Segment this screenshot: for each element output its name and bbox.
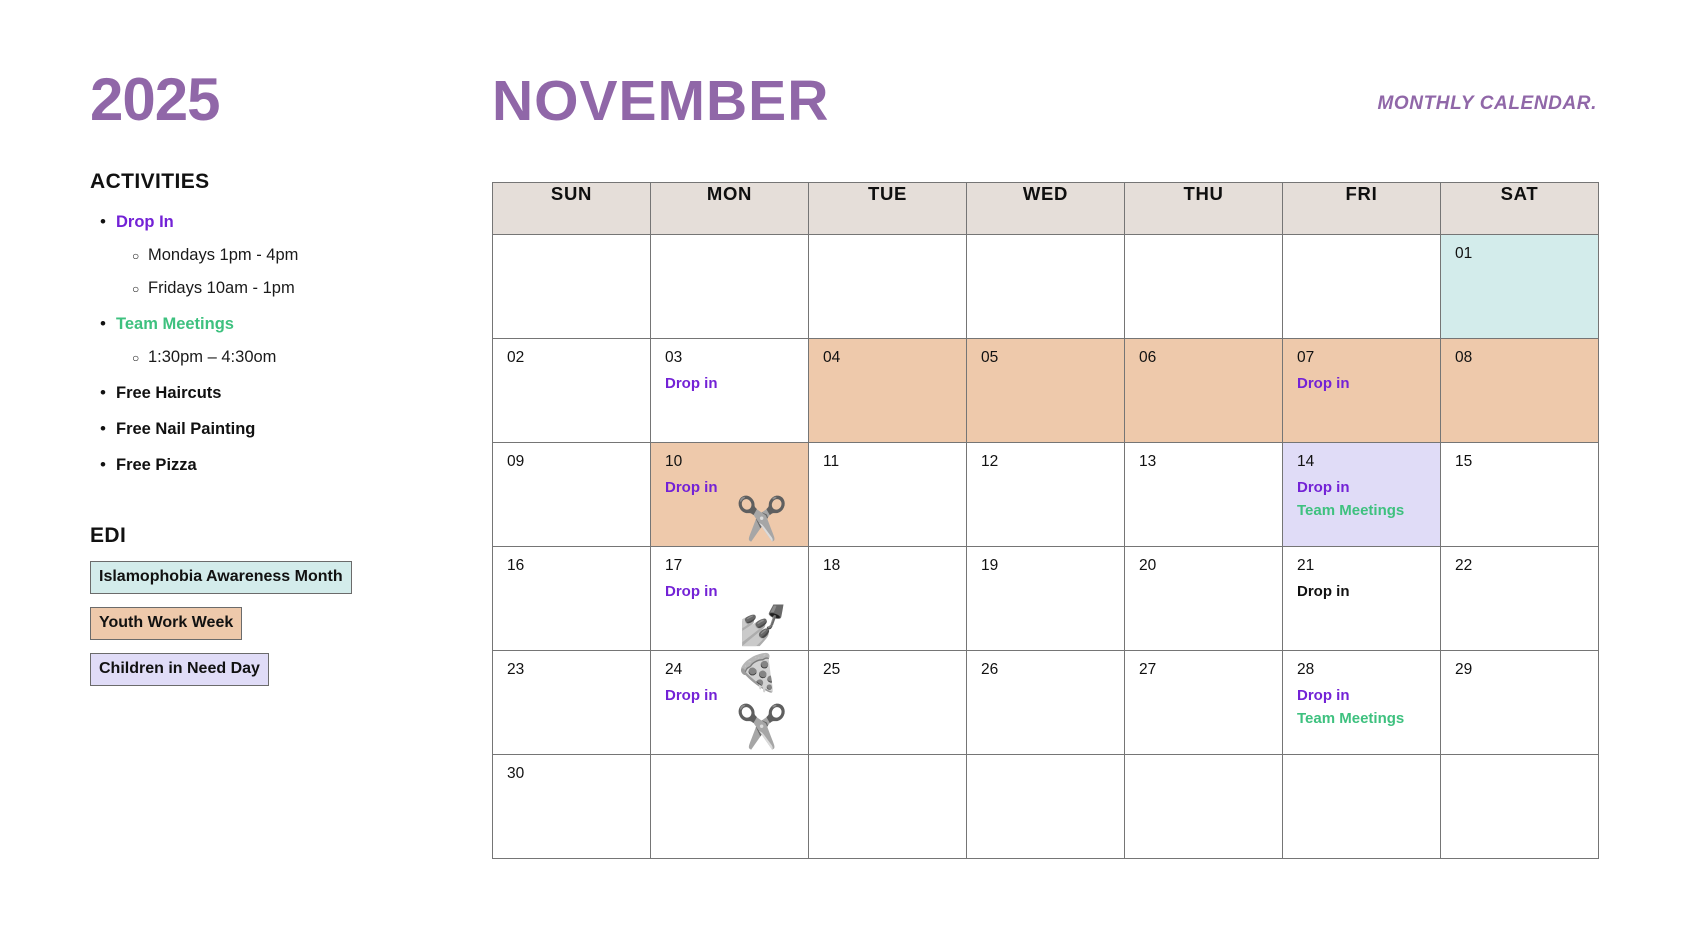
bullet-dot-icon: • xyxy=(100,456,116,473)
day-cell-30[interactable]: 30 xyxy=(493,755,651,859)
day-number: 06 xyxy=(1139,349,1156,367)
day-number: 16 xyxy=(507,557,524,575)
activity-bullet-row: •Free Haircuts xyxy=(90,377,420,410)
nail-polish-icon: 💅 xyxy=(738,606,788,646)
calendar-page: 2025 ACTIVITIES •Drop In○Mondays 1pm - 4… xyxy=(0,0,1687,947)
sub-bullet-circle-icon: ○ xyxy=(132,250,148,262)
day-cell-16[interactable]: 16 xyxy=(493,547,651,651)
activity-item: •Free Nail Painting xyxy=(90,413,420,446)
day-number: 15 xyxy=(1455,453,1472,471)
day-cell-13[interactable]: 13 xyxy=(1125,443,1283,547)
activity-item: •Free Pizza xyxy=(90,449,420,482)
day-cell-21[interactable]: 21Drop in xyxy=(1283,547,1441,651)
activity-bullet-row: •Free Pizza xyxy=(90,449,420,482)
weekday-header-thu: THU xyxy=(1125,183,1283,235)
day-cell-03[interactable]: 03Drop in xyxy=(651,339,809,443)
day-cell-empty xyxy=(1283,755,1441,859)
bullet-dot-icon: • xyxy=(100,315,116,332)
day-number: 08 xyxy=(1455,349,1472,367)
sidebar: 2025 ACTIVITIES •Drop In○Mondays 1pm - 4… xyxy=(90,70,420,699)
day-number: 23 xyxy=(507,661,524,679)
day-number: 17 xyxy=(665,557,682,575)
day-number: 11 xyxy=(823,453,839,471)
day-events: Drop in xyxy=(665,684,802,707)
activity-subitem: ○1:30pm – 4:30om xyxy=(90,341,420,374)
day-cell-08[interactable]: 08 xyxy=(1441,339,1599,443)
calendar-body: 010203Drop in04050607Drop in080910Drop i… xyxy=(493,235,1599,859)
day-cell-empty xyxy=(1283,235,1441,339)
activity-bullet-row: •Drop In xyxy=(90,206,420,239)
day-cell-04[interactable]: 04 xyxy=(809,339,967,443)
weekday-header-sun: SUN xyxy=(493,183,651,235)
activity-subitem-label: 1:30pm – 4:30om xyxy=(148,341,276,374)
day-number: 12 xyxy=(981,453,998,471)
day-number: 21 xyxy=(1297,557,1314,575)
day-cell-07[interactable]: 07Drop in xyxy=(1283,339,1441,443)
day-events: Drop in xyxy=(665,476,802,499)
event-label[interactable]: Team Meetings xyxy=(1297,707,1434,730)
day-number: 27 xyxy=(1139,661,1156,679)
edi-tag-row: Children in Need Day xyxy=(90,653,420,699)
event-label[interactable]: Team Meetings xyxy=(1297,499,1434,522)
page-title: NOVEMBER xyxy=(492,73,829,130)
activity-item: •Free Haircuts xyxy=(90,377,420,410)
day-number: 05 xyxy=(981,349,998,367)
day-cell-empty xyxy=(651,235,809,339)
edi-tag: Islamophobia Awareness Month xyxy=(90,561,352,594)
activities-heading: ACTIVITIES xyxy=(90,170,420,194)
activity-label: Free Nail Painting xyxy=(116,413,255,446)
day-number: 14 xyxy=(1297,453,1314,471)
day-events: Drop inTeam Meetings xyxy=(1297,684,1434,731)
weekday-header-mon: MON xyxy=(651,183,809,235)
day-cell-12[interactable]: 12 xyxy=(967,443,1125,547)
day-cell-empty xyxy=(809,235,967,339)
activity-subitem-label: Fridays 10am - 1pm xyxy=(148,272,295,305)
day-events: Drop in xyxy=(1297,580,1434,603)
day-number: 30 xyxy=(507,765,524,783)
day-cell-24[interactable]: 24Drop in🍕✂️ xyxy=(651,651,809,755)
scissors-icon: ✂️ xyxy=(736,498,788,540)
weekday-header-fri: FRI xyxy=(1283,183,1441,235)
day-cell-empty xyxy=(967,235,1125,339)
weekday-header-wed: WED xyxy=(967,183,1125,235)
day-number: 02 xyxy=(507,349,524,367)
event-label[interactable]: Drop in xyxy=(1297,372,1434,395)
calendar-week-row: 2324Drop in🍕✂️25262728Drop inTeam Meetin… xyxy=(493,651,1599,755)
day-cell-19[interactable]: 19 xyxy=(967,547,1125,651)
day-cell-22[interactable]: 22 xyxy=(1441,547,1599,651)
sub-bullet-circle-icon: ○ xyxy=(132,352,148,364)
day-cell-05[interactable]: 05 xyxy=(967,339,1125,443)
activity-bullet-row: •Free Nail Painting xyxy=(90,413,420,446)
event-label[interactable]: Drop in xyxy=(665,476,802,499)
day-events: Drop in xyxy=(1297,372,1434,395)
activity-label: Team Meetings xyxy=(116,308,234,341)
day-cell-26[interactable]: 26 xyxy=(967,651,1125,755)
day-number: 22 xyxy=(1455,557,1472,575)
day-cell-empty xyxy=(967,755,1125,859)
calendar-grid: SUNMONTUEWEDTHUFRISAT 010203Drop in04050… xyxy=(492,182,1599,859)
sub-bullet-circle-icon: ○ xyxy=(132,283,148,295)
activity-subitem: ○Mondays 1pm - 4pm xyxy=(90,239,420,272)
day-cell-11[interactable]: 11 xyxy=(809,443,967,547)
day-cell-17[interactable]: 17Drop in💅 xyxy=(651,547,809,651)
edi-tag: Children in Need Day xyxy=(90,653,269,686)
edi-section: EDI Islamophobia Awareness MonthYouth Wo… xyxy=(90,524,420,699)
day-cell-02[interactable]: 02 xyxy=(493,339,651,443)
day-number: 04 xyxy=(823,349,840,367)
event-label[interactable]: Drop in xyxy=(1297,580,1434,603)
day-cell-empty xyxy=(1441,755,1599,859)
event-label[interactable]: Drop in xyxy=(665,684,802,707)
day-cell-empty xyxy=(651,755,809,859)
day-cell-15[interactable]: 15 xyxy=(1441,443,1599,547)
day-cell-empty xyxy=(493,235,651,339)
day-cell-29[interactable]: 29 xyxy=(1441,651,1599,755)
day-number: 20 xyxy=(1139,557,1156,575)
activity-label: Drop In xyxy=(116,206,174,239)
day-cell-empty xyxy=(809,755,967,859)
day-cell-10[interactable]: 10Drop in✂️ xyxy=(651,443,809,547)
activity-label: Free Haircuts xyxy=(116,377,221,410)
day-cell-empty xyxy=(1125,235,1283,339)
activity-bullet-row: •Team Meetings xyxy=(90,308,420,341)
day-cell-28[interactable]: 28Drop inTeam Meetings xyxy=(1283,651,1441,755)
day-number: 28 xyxy=(1297,661,1314,679)
weekday-header-sat: SAT xyxy=(1441,183,1599,235)
weekday-header-row: SUNMONTUEWEDTHUFRISAT xyxy=(493,183,1599,235)
day-number: 10 xyxy=(665,453,682,471)
edi-tag-row: Youth Work Week xyxy=(90,607,420,653)
event-label[interactable]: Drop in xyxy=(1297,684,1434,707)
day-cell-01[interactable]: 01 xyxy=(1441,235,1599,339)
bullet-dot-icon: • xyxy=(100,420,116,437)
activity-subitem: ○Fridays 10am - 1pm xyxy=(90,272,420,305)
activities-list: •Drop In○Mondays 1pm - 4pm○Fridays 10am … xyxy=(90,206,420,482)
activity-subitem-label: Mondays 1pm - 4pm xyxy=(148,239,298,272)
bullet-dot-icon: • xyxy=(100,213,116,230)
day-number: 24 xyxy=(665,661,682,679)
weekday-header-tue: TUE xyxy=(809,183,967,235)
edi-tag: Youth Work Week xyxy=(90,607,242,640)
calendar-subtitle: MONTHLY CALENDAR. xyxy=(1377,93,1597,115)
day-events: Drop in xyxy=(665,580,802,603)
calendar-week-row: 0203Drop in04050607Drop in08 xyxy=(493,339,1599,443)
day-cell-23[interactable]: 23 xyxy=(493,651,651,755)
day-number: 03 xyxy=(665,349,682,367)
day-cell-25[interactable]: 25 xyxy=(809,651,967,755)
edi-tag-row: Islamophobia Awareness Month xyxy=(90,561,420,607)
day-number: 09 xyxy=(507,453,524,471)
calendar-week-row: 01 xyxy=(493,235,1599,339)
day-number: 19 xyxy=(981,557,998,575)
event-label[interactable]: Drop in xyxy=(1297,476,1434,499)
event-label[interactable]: Drop in xyxy=(665,580,802,603)
day-number: 01 xyxy=(1455,245,1472,263)
edi-heading: EDI xyxy=(90,524,420,548)
calendar-week-row: 30 xyxy=(493,755,1599,859)
day-cell-empty xyxy=(1125,755,1283,859)
scissors-icon: ✂️ xyxy=(736,706,788,748)
day-cell-20[interactable]: 20 xyxy=(1125,547,1283,651)
day-number: 18 xyxy=(823,557,840,575)
activity-label: Free Pizza xyxy=(116,449,197,482)
calendar-week-row: 1617Drop in💅18192021Drop in22 xyxy=(493,547,1599,651)
day-events: Drop in xyxy=(665,372,802,395)
day-number: 25 xyxy=(823,661,840,679)
activity-item: •Team Meetings○1:30pm – 4:30om xyxy=(90,308,420,374)
day-number: 13 xyxy=(1139,453,1156,471)
day-cell-06[interactable]: 06 xyxy=(1125,339,1283,443)
day-events: Drop inTeam Meetings xyxy=(1297,476,1434,523)
day-number: 29 xyxy=(1455,661,1472,679)
bullet-dot-icon: • xyxy=(100,384,116,401)
calendar-week-row: 0910Drop in✂️11121314Drop inTeam Meeting… xyxy=(493,443,1599,547)
event-label[interactable]: Drop in xyxy=(665,372,802,395)
year-heading: 2025 xyxy=(90,70,420,130)
activity-item: •Drop In○Mondays 1pm - 4pm○Fridays 10am … xyxy=(90,206,420,305)
day-cell-09[interactable]: 09 xyxy=(493,443,651,547)
day-cell-18[interactable]: 18 xyxy=(809,547,967,651)
day-cell-14[interactable]: 14Drop inTeam Meetings xyxy=(1283,443,1441,547)
edi-tag-list: Islamophobia Awareness MonthYouth Work W… xyxy=(90,561,420,699)
day-cell-27[interactable]: 27 xyxy=(1125,651,1283,755)
day-number: 26 xyxy=(981,661,998,679)
day-number: 07 xyxy=(1297,349,1314,367)
